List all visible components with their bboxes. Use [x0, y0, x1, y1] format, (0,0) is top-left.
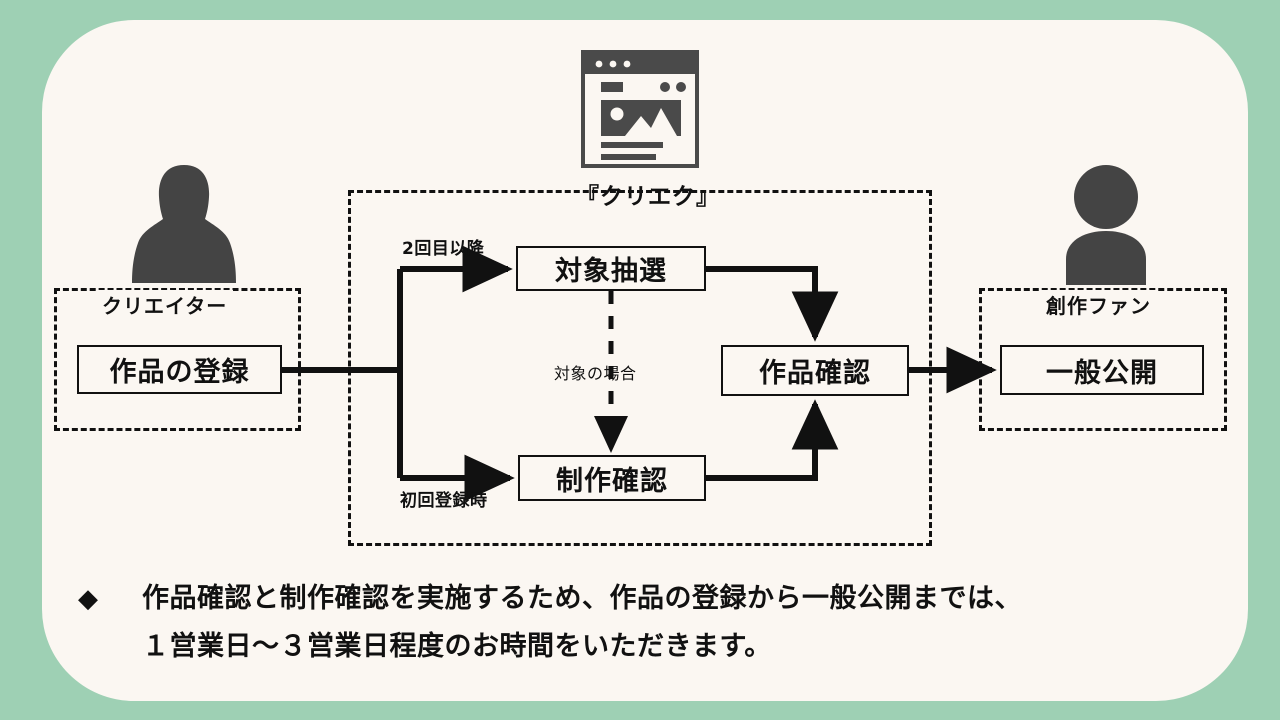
- step-box-target-selection[interactable]: 対象抽選: [516, 246, 706, 291]
- flow-label-repeat: 2回目以降: [402, 234, 484, 259]
- flow-label-first-time: 初回登録時: [400, 486, 488, 511]
- step-box-work-registration[interactable]: 作品の登録: [77, 345, 282, 394]
- step-box-public-release[interactable]: 一般公開: [1000, 345, 1204, 395]
- step-box-production-check[interactable]: 制作確認: [518, 455, 706, 501]
- footer-note: ◆作品確認と制作確認を実施するため、作品の登録から一般公開までは、 １営業日〜３…: [78, 575, 1208, 670]
- note-line-2: １営業日〜３営業日程度のお時間をいただきます。: [78, 623, 1208, 670]
- step-box-work-check[interactable]: 作品確認: [721, 345, 909, 396]
- flow-label-conditional: 対象の場合: [554, 360, 637, 384]
- note-bullet-icon: ◆: [78, 576, 142, 623]
- slide-canvas: 『クリエク』 クリエイター 創作ファン: [0, 0, 1280, 720]
- note-line-1: 作品確認と制作確認を実施するため、作品の登録から一般公開までは、: [142, 583, 1022, 614]
